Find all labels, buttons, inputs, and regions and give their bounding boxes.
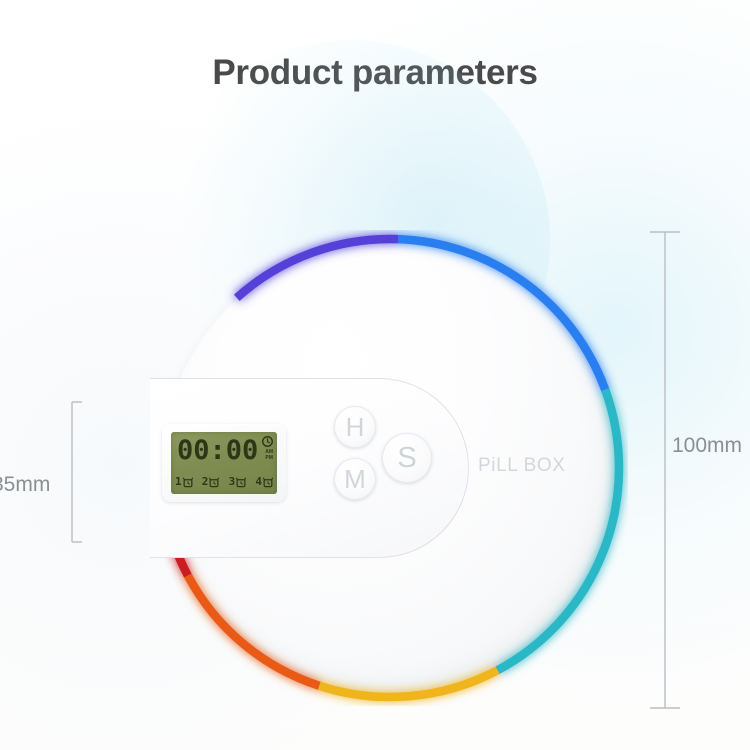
minute-button[interactable]: M xyxy=(334,458,376,500)
thickness-dimension-label: 35mm xyxy=(0,473,50,497)
lcd-time-value: 00:00 xyxy=(177,434,258,467)
alarm-bell-icon xyxy=(236,477,246,488)
alarm-bell-icon xyxy=(183,477,193,488)
brand-label: PiLL BOX xyxy=(478,455,566,477)
alarm-slot-4: 4 xyxy=(255,476,273,488)
lcd-bezel: 00:00 AM PM 1234 xyxy=(162,424,286,502)
alarm-bell-icon xyxy=(263,477,273,488)
set-button[interactable]: S xyxy=(382,433,432,483)
alarm-slot-number: 1 xyxy=(175,476,182,488)
alarm-slot-2: 2 xyxy=(202,476,220,488)
alarm-slot-number: 3 xyxy=(229,476,236,488)
alarm-slot-number: 2 xyxy=(202,476,209,488)
ring-segment-blue-top xyxy=(398,239,605,390)
alarm-bell-icon xyxy=(209,477,219,488)
thickness-dimension-line xyxy=(62,396,82,548)
alarm-slot-row: 1234 xyxy=(175,474,273,490)
alarm-slot-1: 1 xyxy=(175,476,193,488)
pm-label: PM xyxy=(265,455,273,461)
lcd-screen: 00:00 AM PM 1234 xyxy=(171,432,277,494)
alarm-slot-3: 3 xyxy=(229,476,247,488)
clock-icon xyxy=(262,436,273,447)
ring-segment-purple-left xyxy=(237,239,398,298)
height-dimension-label: 100mm xyxy=(672,434,742,458)
lcd-time-row: 00:00 AM PM xyxy=(175,436,274,469)
pill-box-device: 00:00 AM PM 1234 H M S PiLL BOX xyxy=(152,230,628,706)
hour-button[interactable]: H xyxy=(334,406,376,448)
ring-segment-cyan-right xyxy=(498,390,619,671)
ring-segment-orange xyxy=(188,576,319,686)
page-title: Product parameters xyxy=(0,52,750,94)
height-dimension-line xyxy=(650,225,680,715)
product-parameters-page: Product parameters 00:00 xyxy=(0,0,750,750)
am-pm-indicator: AM PM xyxy=(265,449,273,461)
alarm-slot-number: 4 xyxy=(255,476,262,488)
ring-segment-yellow xyxy=(319,670,497,697)
